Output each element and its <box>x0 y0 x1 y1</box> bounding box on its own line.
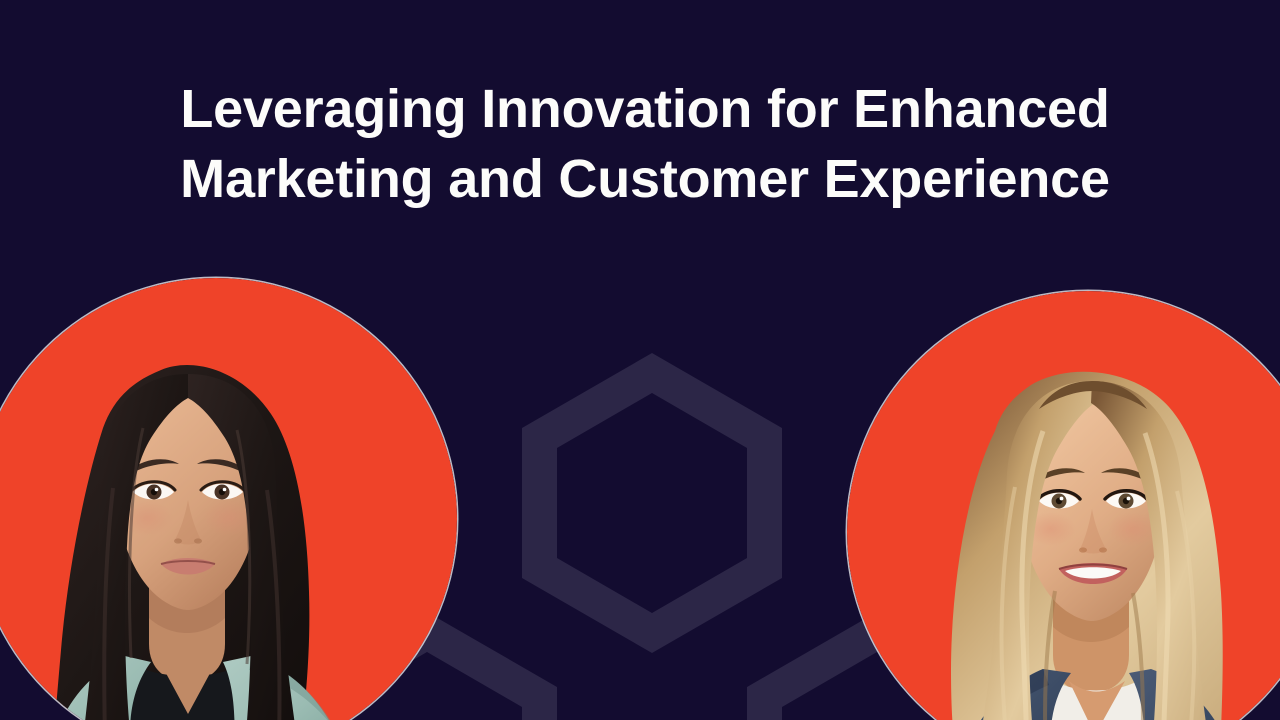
nostril-left <box>174 538 182 543</box>
eye-highlight-right <box>223 488 227 492</box>
nostril-right <box>194 538 202 543</box>
slide-title: Leveraging Innovation for Enhanced Marke… <box>50 74 1240 214</box>
speaker-right-portrait <box>847 291 1280 720</box>
title-line-1: Leveraging Innovation for Enhanced <box>50 74 1240 144</box>
slide-canvas: Leveraging Innovation for Enhanced Marke… <box>0 0 1280 720</box>
speaker-avatar-left <box>0 278 457 720</box>
eye-highlight-left <box>1060 497 1064 501</box>
eye-highlight-left <box>155 488 159 492</box>
nostril-left <box>1079 547 1087 552</box>
title-line-2: Marketing and Customer Experience <box>50 144 1240 214</box>
speaker-right-disc <box>847 291 1280 720</box>
eye-highlight-right <box>1127 497 1131 501</box>
nostril-right <box>1099 547 1107 552</box>
speaker-left-portrait <box>0 278 457 720</box>
speaker-left-disc <box>0 278 457 720</box>
speaker-avatar-right <box>847 291 1280 720</box>
